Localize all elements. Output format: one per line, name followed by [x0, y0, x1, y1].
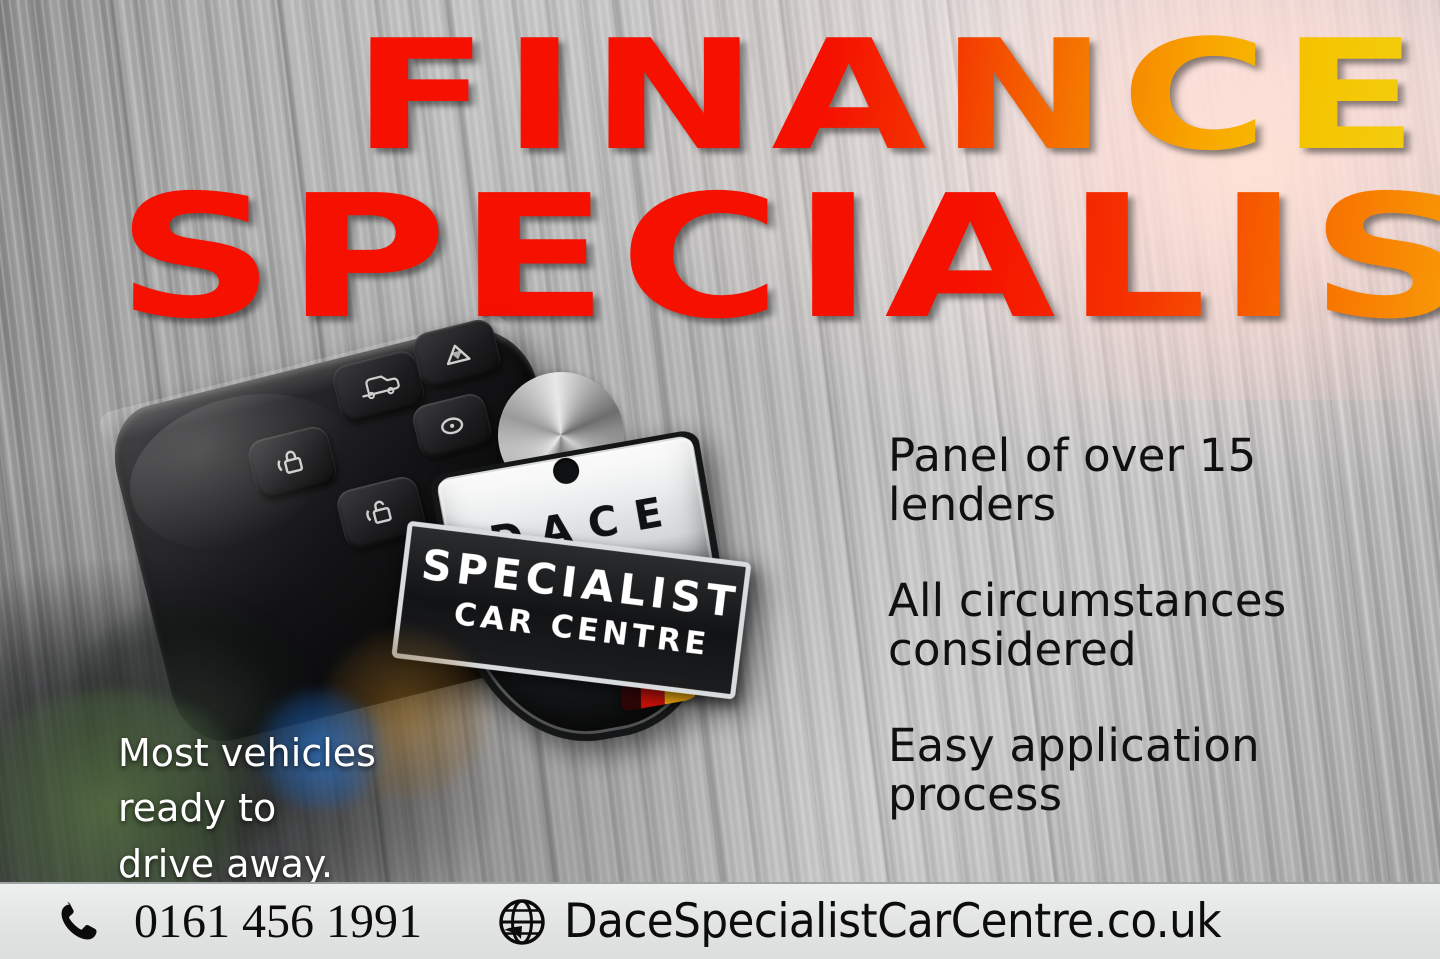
caption-line-1: Most vehicles	[118, 726, 376, 781]
vehicles-ready-caption: Most vehicles ready to drive away.	[118, 726, 376, 892]
feature-item-circumstances: All circumstances considered	[888, 577, 1408, 674]
globe-icon	[496, 896, 548, 948]
contact-footer: 0161 456 1991 DaceSpecialistCarCentre.co…	[0, 882, 1440, 959]
phone-handset-icon	[52, 895, 106, 949]
phone-number: 0161 456 1991	[134, 894, 422, 949]
feature-item-application: Easy application process	[888, 722, 1408, 819]
website-url: DaceSpecialistCarCentre.co.uk	[564, 894, 1221, 949]
caption-line-2: ready to	[118, 781, 376, 836]
feature-item-lenders: Panel of over 15 lenders	[888, 432, 1408, 529]
website-contact[interactable]: DaceSpecialistCarCentre.co.uk	[496, 894, 1270, 949]
dace-logo-badge: DACE SPECIALIST CAR CENTRE	[429, 429, 747, 762]
finance-specialists-advert: FINANCE SPECIALISTS	[0, 0, 1440, 959]
phone-contact[interactable]: 0161 456 1991	[52, 894, 422, 949]
feature-list: Panel of over 15 lenders All circumstanc…	[888, 432, 1408, 820]
